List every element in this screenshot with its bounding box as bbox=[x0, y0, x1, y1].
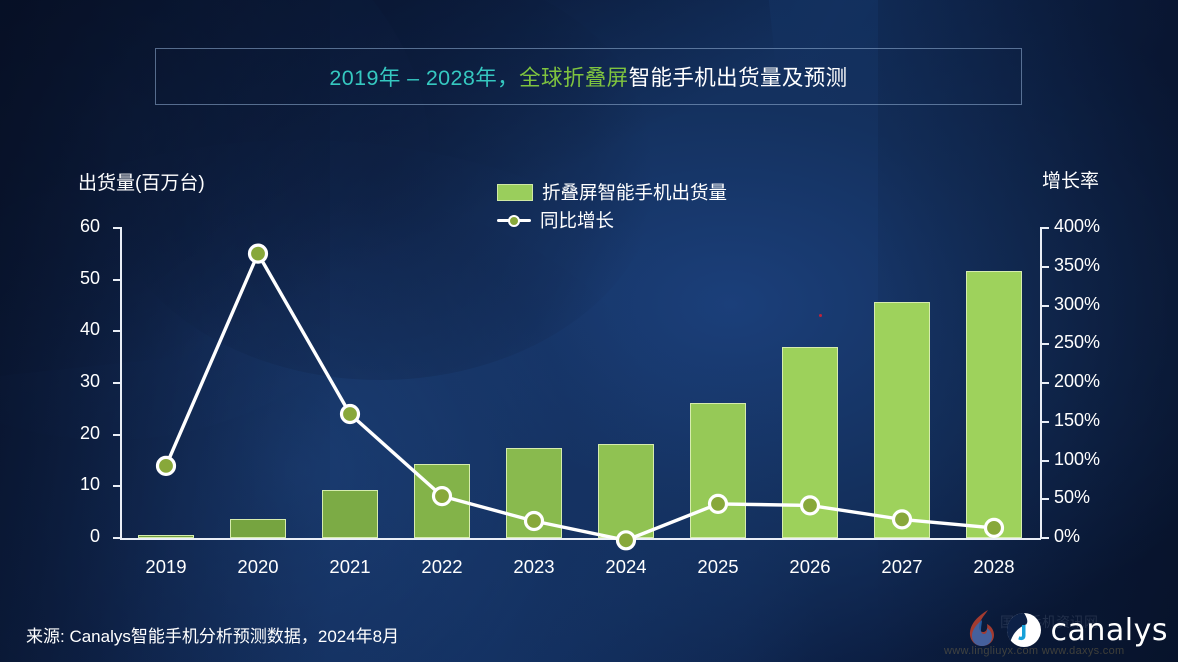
y-tick-label-right: 350% bbox=[1054, 255, 1126, 276]
canalys-logo-icon bbox=[1001, 607, 1047, 653]
title-years: 2019年 – 2028年， bbox=[329, 66, 519, 90]
title-rest: 智能手机出货量及预测 bbox=[629, 66, 848, 90]
y-tick-label-right: 300% bbox=[1054, 294, 1126, 315]
y-tick-right bbox=[1041, 421, 1049, 423]
y-tick-label-left: 30 bbox=[54, 371, 100, 392]
x-tick-label-2020: 2020 bbox=[212, 556, 304, 578]
y-tick-right bbox=[1041, 343, 1049, 345]
x-tick-label-2028: 2028 bbox=[948, 556, 1040, 578]
x-tick-label-2019: 2019 bbox=[120, 556, 212, 578]
growth-line-path bbox=[166, 254, 994, 541]
canalys-wordmark: canalys bbox=[1051, 613, 1169, 648]
growth-marker-2025[interactable] bbox=[710, 495, 727, 512]
line-series bbox=[120, 228, 1040, 540]
chart-legend: 折叠屏智能手机出货量 同比增长 bbox=[497, 178, 727, 234]
y-tick-label-left: 60 bbox=[54, 216, 100, 237]
chart-canvas: 2019年 – 2028年，全球折叠屏智能手机出货量及预测 出货量(百万台) 增… bbox=[0, 0, 1178, 662]
y-tick-label-right: 250% bbox=[1054, 332, 1126, 353]
x-tick-label-2021: 2021 bbox=[304, 556, 396, 578]
y-tick-label-left: 20 bbox=[54, 423, 100, 444]
legend-line-marker-icon bbox=[497, 213, 531, 228]
legend-bar-swatch-icon bbox=[497, 184, 533, 201]
x-tick-label-2025: 2025 bbox=[672, 556, 764, 578]
y-tick-right bbox=[1041, 460, 1049, 462]
growth-marker-2020[interactable] bbox=[250, 245, 267, 262]
growth-marker-2027[interactable] bbox=[894, 511, 911, 528]
y-tick-right bbox=[1041, 498, 1049, 500]
y-axis-left-title: 出货量(百万台) bbox=[78, 168, 205, 195]
stray-red-dot bbox=[819, 314, 822, 317]
y-tick-right bbox=[1041, 382, 1049, 384]
y-tick-right bbox=[1041, 266, 1049, 268]
y-axis-right-title: 增长率 bbox=[1042, 166, 1099, 193]
y-tick-label-left: 0 bbox=[54, 526, 100, 547]
y-tick-right bbox=[1041, 305, 1049, 307]
growth-marker-2022[interactable] bbox=[434, 488, 451, 505]
legend-bar-label: 折叠屏智能手机出货量 bbox=[542, 179, 727, 205]
x-tick-label-2022: 2022 bbox=[396, 556, 488, 578]
x-tick-label-2024: 2024 bbox=[580, 556, 672, 578]
y-tick-label-left: 50 bbox=[54, 268, 100, 289]
growth-marker-2021[interactable] bbox=[342, 406, 359, 423]
growth-marker-2028[interactable] bbox=[986, 519, 1003, 536]
y-tick-label-right: 0% bbox=[1054, 526, 1126, 547]
x-tick-label-2023: 2023 bbox=[488, 556, 580, 578]
y-tick-label-right: 150% bbox=[1054, 410, 1126, 431]
x-tick-label-2026: 2026 bbox=[764, 556, 856, 578]
y-tick-label-right: 50% bbox=[1054, 487, 1126, 508]
growth-marker-2019[interactable] bbox=[158, 457, 175, 474]
y-tick-right bbox=[1041, 227, 1049, 229]
canalys-brand: canalys bbox=[1001, 604, 1169, 656]
growth-marker-2023[interactable] bbox=[526, 513, 543, 530]
growth-marker-2024[interactable] bbox=[618, 532, 635, 549]
chart-title-box: 2019年 – 2028年，全球折叠屏智能手机出货量及预测 bbox=[155, 48, 1022, 105]
y-tick-right bbox=[1041, 537, 1049, 539]
chart-title: 2019年 – 2028年，全球折叠屏智能手机出货量及预测 bbox=[329, 61, 847, 92]
title-highlight: 全球折叠屏 bbox=[519, 66, 629, 90]
y-tick-label-left: 40 bbox=[54, 319, 100, 340]
y-tick-label-left: 10 bbox=[54, 474, 100, 495]
x-tick-label-2027: 2027 bbox=[856, 556, 948, 578]
y-tick-label-right: 100% bbox=[1054, 449, 1126, 470]
source-note: 来源: Canalys智能手机分析预测数据，2024年8月 bbox=[26, 622, 399, 647]
legend-item-bar[interactable]: 折叠屏智能手机出货量 bbox=[497, 178, 727, 206]
y-tick-label-right: 200% bbox=[1054, 371, 1126, 392]
growth-marker-2026[interactable] bbox=[802, 497, 819, 514]
y-tick-label-right: 400% bbox=[1054, 216, 1126, 237]
